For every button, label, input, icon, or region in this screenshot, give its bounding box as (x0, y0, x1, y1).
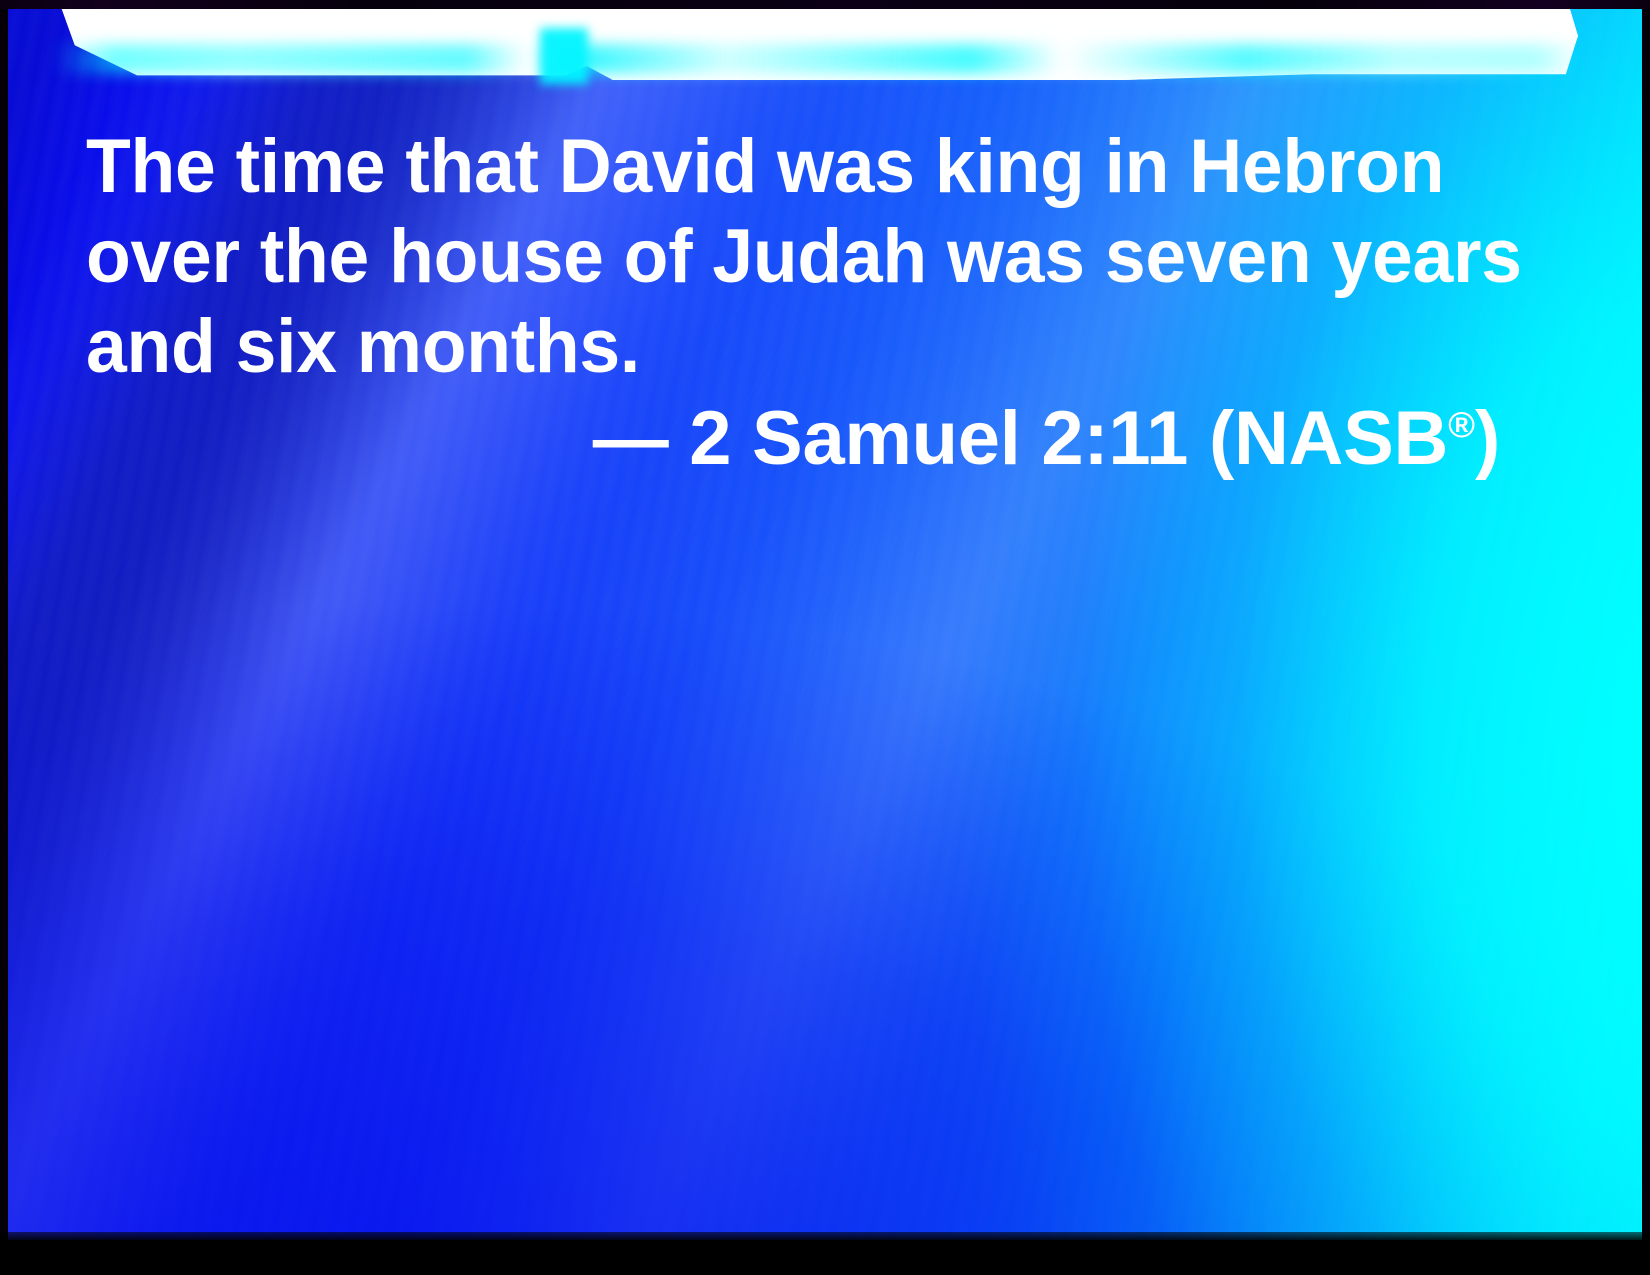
slide-background-artwork (8, 8, 1642, 1240)
background-cyan-right-glow (8, 8, 1642, 1240)
bottom-black-band (0, 1232, 1650, 1275)
slide-frame: The time that David was king in Hebron o… (0, 0, 1650, 1275)
